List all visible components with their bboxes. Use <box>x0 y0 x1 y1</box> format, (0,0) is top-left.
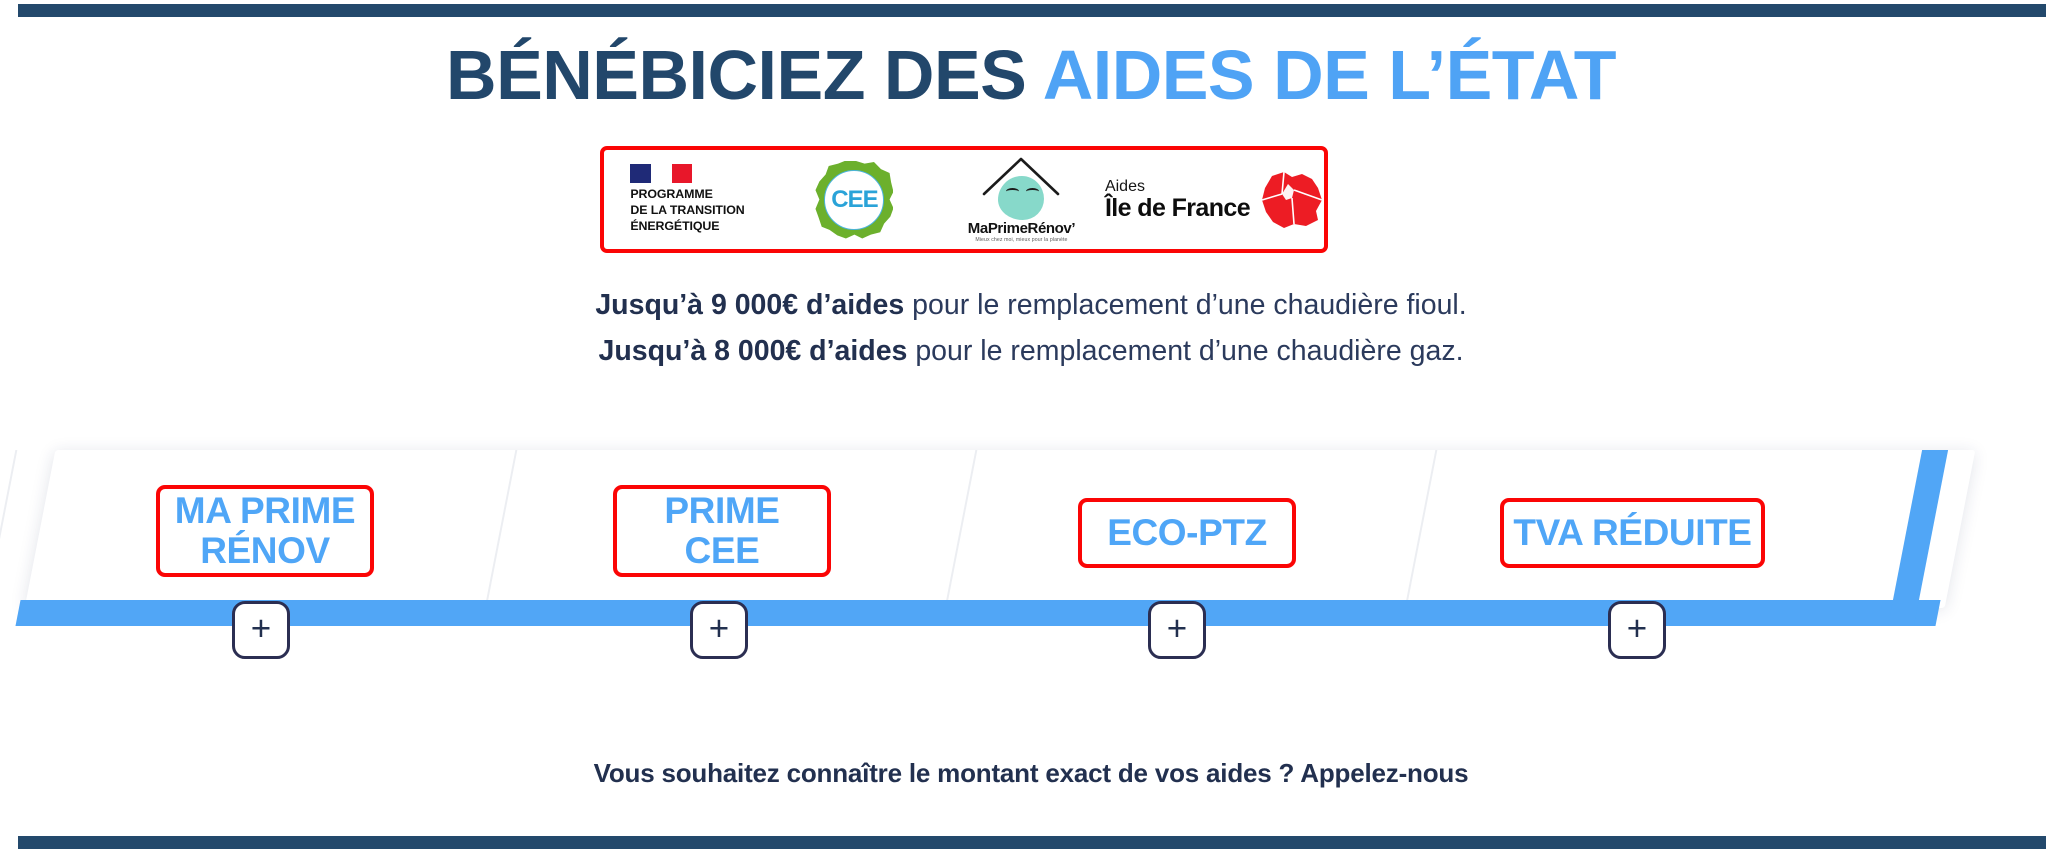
title-part-light: AIDES DE L’ÉTAT <box>1043 36 1616 114</box>
aid-badge-prime-cee[interactable]: PRIME CEE <box>613 485 831 577</box>
mpr-tagline: Mieux chez moi, mieux pour la planète <box>946 237 1096 243</box>
band-divider <box>0 450 17 608</box>
aid-badge-tva-reduite[interactable]: TVA RÉDUITE <box>1500 498 1765 568</box>
expand-button-eco-ptz[interactable]: + <box>1148 601 1206 659</box>
cee-label: CEE <box>831 188 877 212</box>
top-rule <box>18 4 2046 17</box>
aid-badge-line-1: PRIME <box>664 490 779 531</box>
expand-button-ma-prime-renov[interactable]: + <box>232 601 290 659</box>
aid-badge-eco-ptz[interactable]: ECO-PTZ <box>1078 498 1296 568</box>
aid-amount-rest: pour le remplacement d’une chaudière fio… <box>904 289 1466 321</box>
page-title: BÉNÉBICIEZ DES AIDES DE L’ÉTAT <box>0 40 2062 110</box>
idf-region-label: Île de France <box>1105 195 1250 221</box>
idf-aides-label: Aides <box>1105 178 1250 196</box>
logo-programme-transition-energetique: PROGRAMME DE LA TRANSITION ÉNERGÉTIQUE <box>604 150 771 249</box>
aid-amount-line: Jusqu’à 9 000€ d’aides pour le remplacem… <box>0 282 2062 328</box>
expand-button-tva-reduite[interactable]: + <box>1608 601 1666 659</box>
pte-line-1: PROGRAMME <box>630 187 744 203</box>
aid-badge-ma-prime-renov[interactable]: MA PRIME RÉNOV <box>156 485 374 577</box>
call-to-action-text: Vous souhaitez connaître le montant exac… <box>0 758 2062 789</box>
pte-line-3: ÉNERGÉTIQUE <box>630 219 744 235</box>
aid-amount-strong: Jusqu’à 8 000€ d’aides <box>598 335 907 367</box>
mpr-eye-right-icon <box>1026 188 1039 195</box>
bottom-rule <box>18 836 2046 849</box>
french-flag-icon <box>630 164 692 183</box>
aid-amount-line: Jusqu’à 8 000€ d’aides pour le remplacem… <box>0 328 2062 374</box>
aid-badge-line-1: ECO-PTZ <box>1107 513 1267 553</box>
aid-amount-rest: pour le remplacement d’une chaudière gaz… <box>907 335 1463 367</box>
aid-badge-line-1: MA PRIME <box>175 490 355 531</box>
aid-badge-line-1: TVA RÉDUITE <box>1513 513 1751 553</box>
expand-button-prime-cee[interactable]: + <box>690 601 748 659</box>
title-part-dark: BÉNÉBICIEZ DES <box>446 36 1043 114</box>
aides-etat-section: BÉNÉBICIEZ DES AIDES DE L’ÉTAT PROGRAMME… <box>0 0 2062 854</box>
mpr-name: MaPrimeRénov’ <box>946 220 1096 237</box>
aid-amount-lines: Jusqu’à 9 000€ d’aides pour le remplacem… <box>0 282 2062 374</box>
logo-maprimerenov: MaPrimeRénov’ Mieux chez moi, mieux pour… <box>938 150 1105 249</box>
logo-cee: CEE <box>771 150 938 249</box>
mpr-face-icon <box>998 176 1044 220</box>
aid-badge-line-2: CEE <box>685 530 760 571</box>
aid-badge-line-2: RÉNOV <box>200 530 330 571</box>
pte-line-2: DE LA TRANSITION <box>630 203 744 219</box>
mpr-eye-left-icon <box>1006 188 1019 195</box>
partner-logos-strip: PROGRAMME DE LA TRANSITION ÉNERGÉTIQUE C… <box>600 146 1328 253</box>
aid-amount-strong: Jusqu’à 9 000€ d’aides <box>595 289 904 321</box>
logo-aides-ile-de-france: Aides Île de France <box>1105 150 1324 249</box>
ile-de-france-map-icon <box>1258 170 1324 230</box>
